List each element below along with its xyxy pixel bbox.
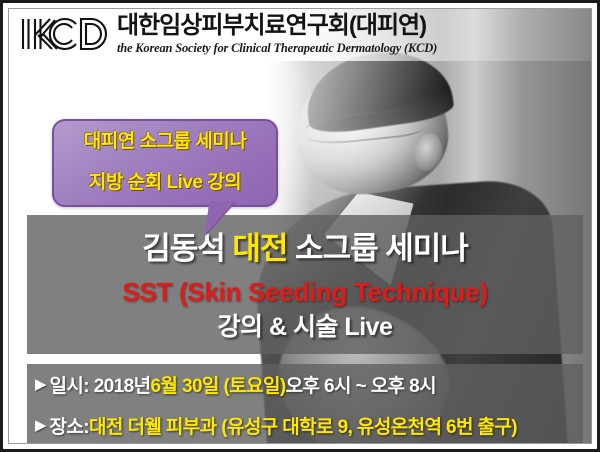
title-speaker-name: 김동석 [142, 231, 232, 266]
lecture-live-line: 강의 & 시술 Live [27, 309, 583, 345]
poster-inner-frame: 대한임상피부치료연구회(대피연) the Korean Society for … [8, 8, 592, 444]
header-text-block: 대한임상피부치료연구회(대피연) the Korean Society for … [117, 11, 437, 56]
speech-bubble-tail [205, 201, 246, 235]
info-row-datetime: ▶ 일시: 2018년 6월 30일 (토요일) 오후 6시 ~ 오후 8시 [27, 364, 583, 405]
venue-label: 장소: [50, 412, 90, 439]
venue-address: 대전 더웰 피부과 (유성구 대학로 9, 유성온천역 6번 출구) [89, 412, 517, 439]
poster-header: 대한임상피부치료연구회(대피연) the Korean Society for … [9, 9, 591, 61]
datetime-time-range: 오후 6시 ~ 오후 8시 [286, 371, 436, 398]
sst-technique-line: SST (Skin Seeding Technique) [27, 275, 583, 309]
event-info-band: ▶ 일시: 2018년 6월 30일 (토요일) 오후 6시 ~ 오후 8시 ▶… [27, 364, 583, 444]
bullet-triangle-icon: ▶ [35, 364, 47, 405]
info-row-venue: ▶ 장소: 대전 더웰 피부과 (유성구 대학로 9, 유성온천역 6번 출구) [27, 405, 583, 444]
seminar-poster: 대한임상피부치료연구회(대피연) the Korean Society for … [0, 0, 600, 452]
datetime-highlight: 6월 30일 (토요일) [150, 371, 285, 398]
bubble-line-1: 대피연 소그룹 세미나 [54, 121, 276, 162]
bubble-line-2: 지방 순회 Live 강의 [54, 162, 276, 203]
datetime-label: 일시: 2018년 [50, 371, 151, 398]
kcd-logo-icon [19, 15, 111, 53]
main-title-band: 김동석 대전 소그룹 세미나 SST (Skin Seeding Techniq… [27, 215, 583, 354]
title-event-type: 소그룹 세미나 [287, 231, 467, 266]
society-name-korean: 대한임상피부치료연구회(대피연) [117, 11, 437, 41]
society-name-english: the Korean Society for Clinical Therapeu… [117, 41, 437, 56]
bullet-triangle-icon-2: ▶ [35, 405, 47, 444]
seminar-title: 김동석 대전 소그룹 세미나 [27, 215, 583, 275]
announcement-speech-bubble: 대피연 소그룹 세미나 지방 순회 Live 강의 [52, 119, 278, 207]
title-city-highlight: 대전 [232, 231, 287, 266]
